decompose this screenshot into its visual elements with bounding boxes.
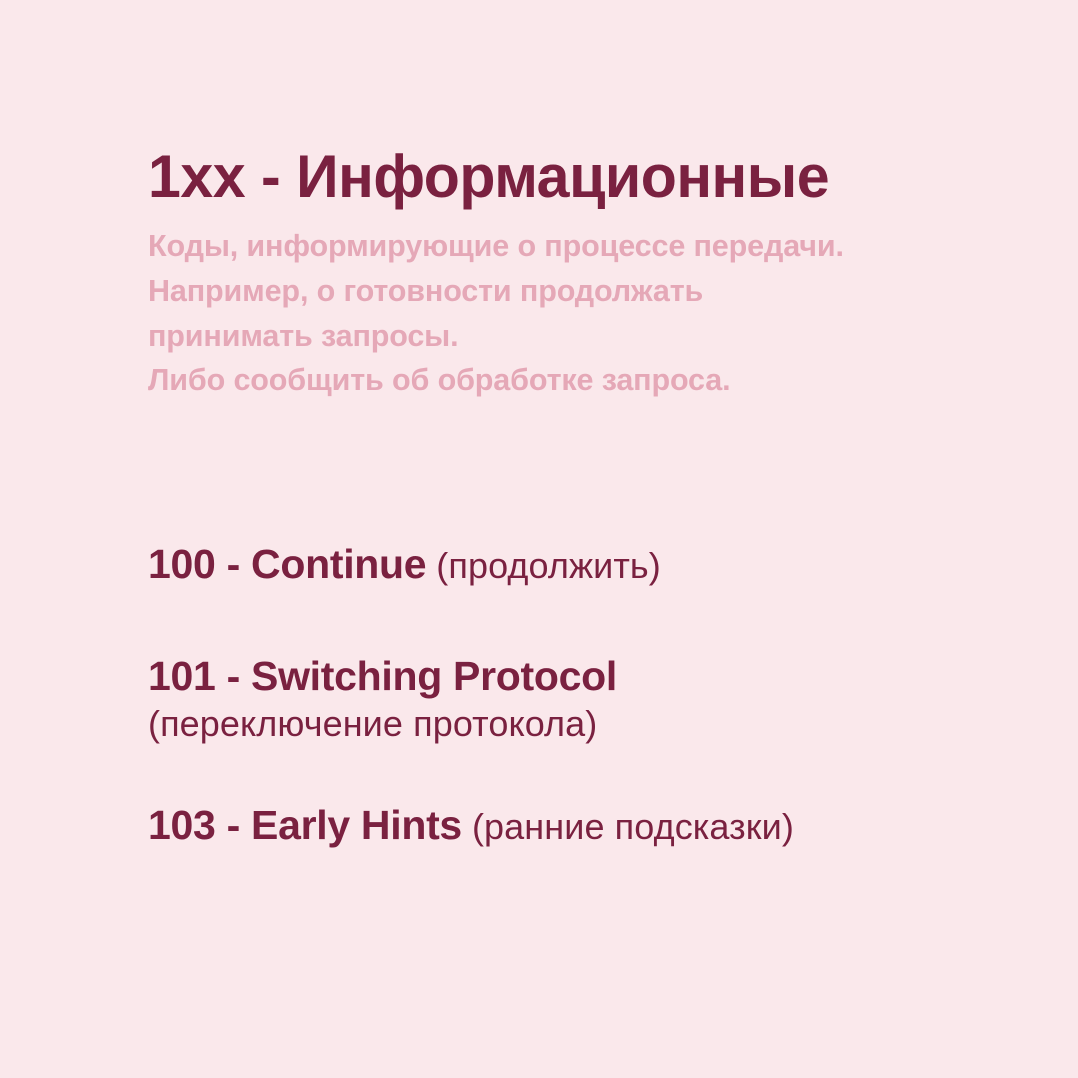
subtitle-line-4: Либо сообщить об обработке запроса.: [148, 358, 1035, 403]
list-item: 100 - Continue(продолжить): [148, 540, 1048, 588]
slide-canvas: 1xx - Информационные Коды, информирующие…: [0, 0, 1078, 1078]
status-code-list: 100 - Continue(продолжить) 101 - Switchi…: [148, 540, 1048, 850]
subtitle-line-2: Например, о готовности продолжать: [148, 269, 1035, 314]
subtitle-line-1: Коды, информирующие о процессе передачи.: [148, 224, 1035, 269]
status-code-103-label: 103 - Early Hints: [148, 802, 462, 848]
subtitle-line-3: принимать запросы.: [148, 314, 1035, 359]
status-code-100-gloss: (продолжить): [436, 545, 661, 586]
slide-content: 1xx - Информационные Коды, информирующие…: [148, 146, 1048, 403]
status-code-101-gloss: (переключение протокола): [148, 703, 1048, 745]
list-item: 101 - Switching Protocol (переключение п…: [148, 652, 1048, 745]
status-code-100-label: 100 - Continue: [148, 541, 426, 587]
subtitle-paragraph: Коды, информирующие о процессе передачи.…: [148, 224, 1035, 403]
status-code-101-label: 101 - Switching Protocol: [148, 653, 617, 699]
list-item: 103 - Early Hints(ранние подсказки): [148, 801, 1048, 849]
status-code-103-gloss: (ранние подсказки): [472, 806, 794, 847]
page-title: 1xx - Информационные: [148, 146, 1035, 208]
